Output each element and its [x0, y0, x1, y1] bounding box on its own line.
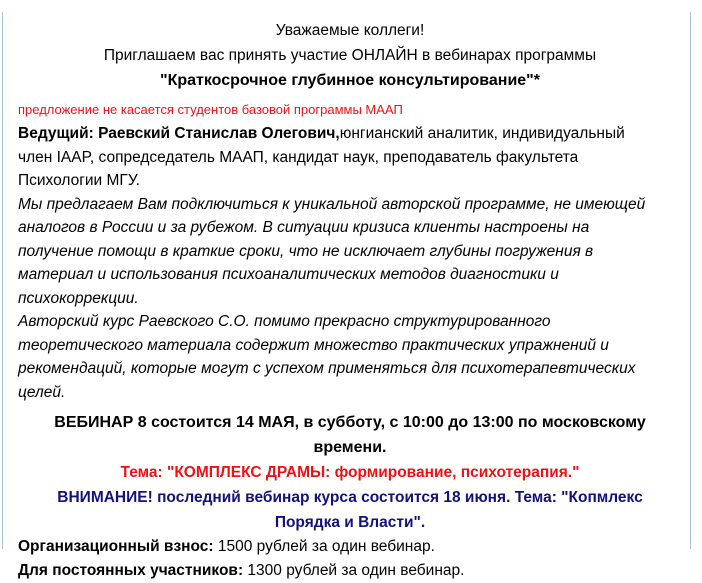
course-description-line-4: целей.: [18, 381, 682, 405]
message-body: Уважаемые коллеги! Приглашаем вас принят…: [14, 18, 688, 583]
offer-description-line-2: аналогов в России и за рубежом. В ситуац…: [18, 216, 682, 240]
disclaimer-note: предложение не касается студентов базово…: [18, 100, 682, 119]
course-description-line-2: теоретического материала содержит множес…: [18, 334, 682, 358]
presenter-name: Ведущий: Раевский Станислав Олегович,: [18, 125, 340, 142]
webinar-announcement-line-2: времени.: [18, 435, 682, 460]
webinar-announcement-line-1: ВЕБИНАР 8 состоится 14 МАЯ, в субботу, с…: [18, 410, 682, 435]
course-description-line-1: Авторский курс Раевского С.О. помимо пре…: [18, 310, 682, 334]
invitation-line: Приглашаем вас принять участие ОНЛАЙН в …: [18, 43, 682, 68]
left-frame-rule: [2, 12, 3, 549]
offer-description-line-1: Мы предлагаем Вам подключиться к уникаль…: [18, 193, 682, 217]
presenter-description-part3: Психологии МГУ.: [18, 169, 682, 193]
attention-notice-line-1: ВНИМАНИЕ! последний вебинар курса состои…: [18, 485, 682, 510]
course-description-line-3: рекомендаций, которые могут с успехом пр…: [18, 357, 682, 381]
program-title: "Краткосрочное глубинное консультировани…: [18, 68, 682, 94]
fee-label-regular: Для постоянных участников:: [18, 562, 243, 579]
fee-row-regular: Для постоянных участников: 1300 рублей з…: [18, 559, 682, 583]
webinar-topic: Тема: "КОМПЛЕКС ДРАМЫ: формирование, пси…: [18, 460, 682, 485]
presenter-description-part2: член IAAP, сопредседатель МААП, кандидат…: [18, 146, 682, 170]
fee-value-regular: 1300 рублей за один вебинар.: [243, 562, 464, 579]
offer-description-line-3: получение помощи в краткие сроки, что не…: [18, 240, 682, 264]
presenter-description-part1: юнгианский аналитик, индивидуальный: [340, 125, 625, 142]
right-frame-rule: [690, 12, 691, 549]
attention-notice-line-2: Порядка и Власти".: [18, 510, 682, 535]
webinar-announcement-page: Уважаемые коллеги! Приглашаем вас принят…: [0, 0, 702, 549]
presenter-line: Ведущий: Раевский Станислав Олегович,юнг…: [18, 122, 682, 146]
offer-description-line-5: психокоррекции.: [18, 287, 682, 311]
fee-label-standard: Организационный взнос:: [18, 538, 214, 555]
offer-description-line-4: материал и использования психоаналитичес…: [18, 263, 682, 287]
fee-row-standard: Организационный взнос: 1500 рублей за од…: [18, 535, 682, 559]
fee-value-standard: 1500 рублей за один вебинар.: [214, 538, 435, 555]
greeting-line: Уважаемые коллеги!: [18, 18, 682, 43]
